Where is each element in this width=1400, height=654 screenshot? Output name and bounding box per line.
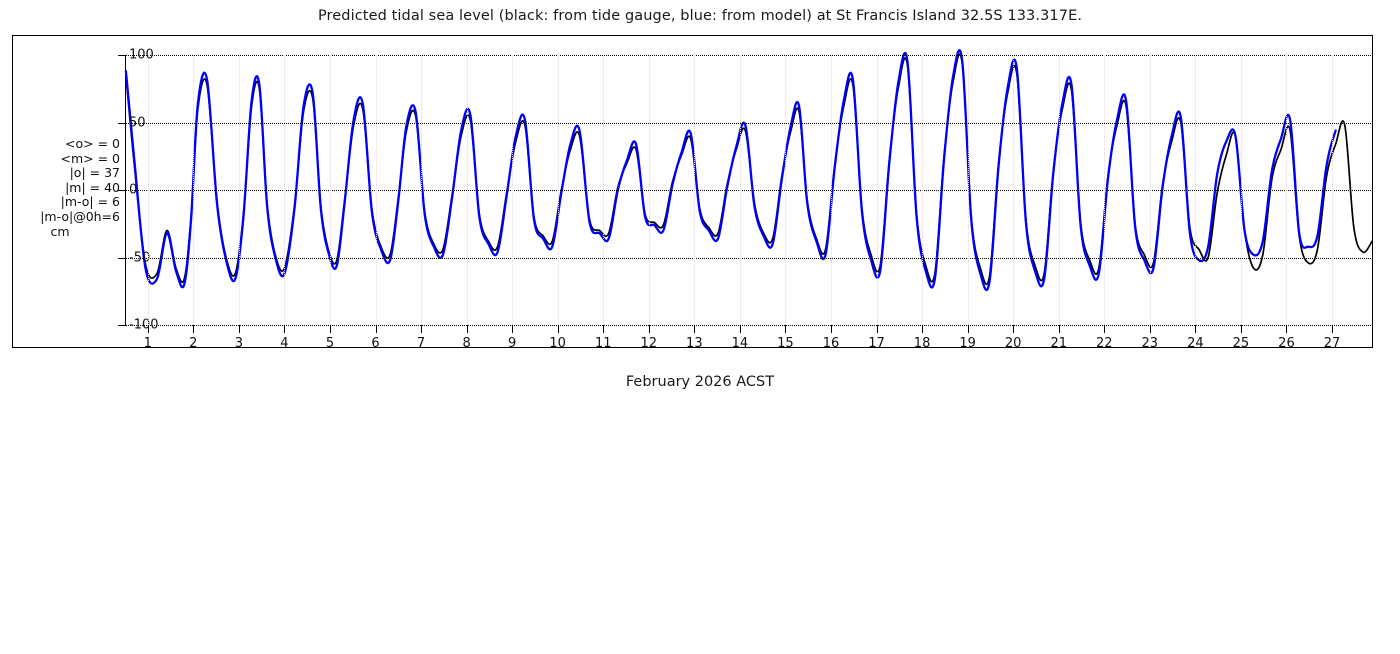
y-tick (118, 258, 125, 259)
x-gridline (603, 55, 604, 325)
x-tick (1195, 325, 1196, 333)
x-gridline (1104, 55, 1105, 325)
y-tick-label: 100 (129, 48, 154, 63)
x-tick-label: 9 (508, 336, 516, 351)
x-gridline (1150, 55, 1151, 325)
x-gridline (922, 55, 923, 325)
x-tick-label: 5 (326, 336, 334, 351)
x-gridline (239, 55, 240, 325)
x-tick-label: 10 (549, 336, 566, 351)
x-tick-label: 26 (1278, 336, 1295, 351)
x-gridline (512, 55, 513, 325)
x-tick-label: 20 (1005, 336, 1022, 351)
x-gridline (1332, 55, 1333, 325)
x-gridline (193, 55, 194, 325)
x-tick-label: 27 (1324, 336, 1341, 351)
x-tick (922, 325, 923, 333)
x-tick-label: 17 (868, 336, 885, 351)
x-tick-label: 12 (641, 336, 658, 351)
x-tick (694, 325, 695, 333)
x-tick (1286, 325, 1287, 333)
x-tick-label: 22 (1096, 336, 1113, 351)
x-gridline (740, 55, 741, 325)
x-tick (785, 325, 786, 333)
x-tick-label: 18 (914, 336, 931, 351)
x-tick (1013, 325, 1014, 333)
x-tick (558, 325, 559, 333)
x-tick-label: 19 (959, 336, 976, 351)
x-tick (467, 325, 468, 333)
x-tick (1150, 325, 1151, 333)
y-tick (118, 325, 125, 326)
y-gridline (125, 258, 1373, 259)
y-gridline (125, 55, 1373, 56)
x-tick (376, 325, 377, 333)
y-tick (118, 123, 125, 124)
x-tick (239, 325, 240, 333)
x-tick (877, 325, 878, 333)
x-tick (284, 325, 285, 333)
x-gridline (1059, 55, 1060, 325)
copyright-area: © IMOS 23-Oct-2025 13:50:25. *Not for na… (1386, 30, 1400, 370)
x-tick (1241, 325, 1242, 333)
x-tick (330, 325, 331, 333)
x-gridline (330, 55, 331, 325)
x-tick (1059, 325, 1060, 333)
statistics-block: <o> = 0 <m> = 0 |o| = 37 |m| = 40 |m-o| … (14, 137, 120, 239)
x-axis-title: February 2026 ACST (0, 374, 1400, 390)
x-gridline (649, 55, 650, 325)
x-tick-label: 25 (1233, 336, 1250, 351)
x-gridline (785, 55, 786, 325)
x-tick-label: 1 (144, 336, 152, 351)
x-gridline (694, 55, 695, 325)
plot-area: 100500-50-100123456789101112131415161718… (125, 55, 1373, 325)
x-tick-label: 23 (1142, 336, 1159, 351)
stat-units: cm (14, 225, 120, 240)
x-gridline (831, 55, 832, 325)
x-gridline (421, 55, 422, 325)
y-tick (118, 55, 125, 56)
x-gridline (877, 55, 878, 325)
x-gridline (148, 55, 149, 325)
stat-abs-diff-0h: |m-o|@0h=6 (14, 210, 120, 225)
x-tick-label: 6 (371, 336, 379, 351)
x-tick-label: 4 (280, 336, 288, 351)
x-gridline (558, 55, 559, 325)
y-tick-label: -100 (129, 318, 159, 333)
x-tick-label: 7 (417, 336, 425, 351)
y-tick-label: 0 (129, 183, 137, 198)
x-tick (968, 325, 969, 333)
stat-abs-model: |m| = 40 (14, 181, 120, 196)
x-tick-label: 13 (686, 336, 703, 351)
y-tick-label: 50 (129, 115, 146, 130)
x-tick (603, 325, 604, 333)
x-gridline (968, 55, 969, 325)
tidal-chart-page: Predicted tidal sea level (black: from t… (0, 0, 1400, 400)
y-gridline (125, 123, 1373, 124)
x-tick (421, 325, 422, 333)
x-tick (649, 325, 650, 333)
x-tick (1104, 325, 1105, 333)
x-gridline (1013, 55, 1014, 325)
y-gridline (125, 325, 1373, 326)
x-tick (740, 325, 741, 333)
stat-abs-diff: |m-o| = 6 (14, 195, 120, 210)
x-tick-label: 8 (462, 336, 470, 351)
x-tick-label: 2 (189, 336, 197, 351)
stat-mean-model: <m> = 0 (14, 152, 120, 167)
stat-mean-obs: <o> = 0 (14, 137, 120, 152)
x-gridline (1195, 55, 1196, 325)
x-gridline (1286, 55, 1287, 325)
x-gridline (376, 55, 377, 325)
x-tick (1332, 325, 1333, 333)
x-tick (148, 325, 149, 333)
x-gridline (1241, 55, 1242, 325)
x-tick-label: 11 (595, 336, 612, 351)
x-tick-label: 14 (732, 336, 749, 351)
x-tick (512, 325, 513, 333)
page-title: Predicted tidal sea level (black: from t… (0, 8, 1400, 24)
stat-abs-obs: |o| = 37 (14, 166, 120, 181)
x-tick (193, 325, 194, 333)
x-tick-label: 16 (823, 336, 840, 351)
x-gridline (284, 55, 285, 325)
x-gridline (467, 55, 468, 325)
x-tick (831, 325, 832, 333)
x-tick-label: 24 (1187, 336, 1204, 351)
x-tick-label: 15 (777, 336, 794, 351)
x-tick-label: 3 (235, 336, 243, 351)
x-tick-label: 21 (1050, 336, 1067, 351)
y-gridline (125, 190, 1373, 191)
y-tick (118, 190, 125, 191)
